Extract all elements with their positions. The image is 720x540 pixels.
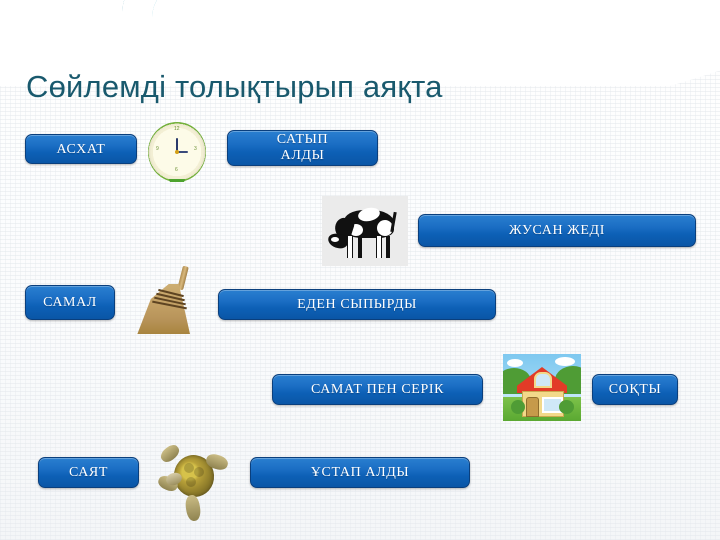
word-card-satyp-aldy-line2: АЛДЫ xyxy=(281,148,325,164)
slide-canvas: Сөйлемді толықтырып аяқта АСХАТ 12 3 6 9… xyxy=(0,0,720,540)
turtle-scute-3 xyxy=(186,477,196,487)
cow-leg-front-left xyxy=(347,236,353,258)
house-image xyxy=(503,354,581,421)
page-title: Сөйлемді толықтырып аяқта xyxy=(26,70,443,104)
cow-leg-back-right xyxy=(386,236,390,258)
house-bush-right xyxy=(559,400,574,414)
house-cloud-1 xyxy=(507,359,523,367)
word-card-ashat[interactable]: АСХАТ xyxy=(25,134,137,164)
cow-image xyxy=(322,196,408,266)
house-cloud-2 xyxy=(555,357,575,366)
clock-tick-3: 3 xyxy=(194,146,197,152)
word-card-satyp-aldy-line1: САТЫП xyxy=(277,132,328,148)
house-bush-left xyxy=(511,400,525,414)
clock-image: 12 3 6 9 xyxy=(148,122,206,182)
word-card-eden-sypyrdy[interactable]: ЕДЕН СЫПЫРДЫ xyxy=(218,289,496,320)
word-card-satyp-aldy[interactable]: САТЫП АЛДЫ xyxy=(227,130,378,166)
word-card-samat-pen-serik[interactable]: САМАТ ПЕН СЕРІК xyxy=(272,374,483,405)
clock-foot xyxy=(169,179,185,182)
turtle-scute-2 xyxy=(194,467,204,477)
clock-tick-12: 12 xyxy=(174,126,180,132)
cow-leg-back-left xyxy=(376,236,382,258)
broom-image xyxy=(118,266,210,336)
clock-tick-9: 9 xyxy=(156,146,159,152)
cow-face-blaze xyxy=(331,237,339,242)
word-card-zhusan-zhedi[interactable]: ЖУСАН ЖЕДІ xyxy=(418,214,696,247)
cow-leg-front-right xyxy=(358,236,362,258)
turtle-flipper-rear-right xyxy=(184,494,201,522)
word-card-ustap-aldy[interactable]: ҰСТАП АЛДЫ xyxy=(250,457,470,488)
word-card-soqty[interactable]: СОҚТЫ xyxy=(592,374,678,405)
turtle-scute-1 xyxy=(184,463,194,473)
house-attic-window xyxy=(534,372,552,388)
word-card-samal[interactable]: САМАЛ xyxy=(25,285,115,320)
clock-tick-6: 6 xyxy=(175,167,178,173)
turtle-image xyxy=(152,437,234,523)
house-door xyxy=(526,397,539,417)
word-card-sayat[interactable]: САЯТ xyxy=(38,457,139,488)
clock-center-pin xyxy=(175,150,179,154)
